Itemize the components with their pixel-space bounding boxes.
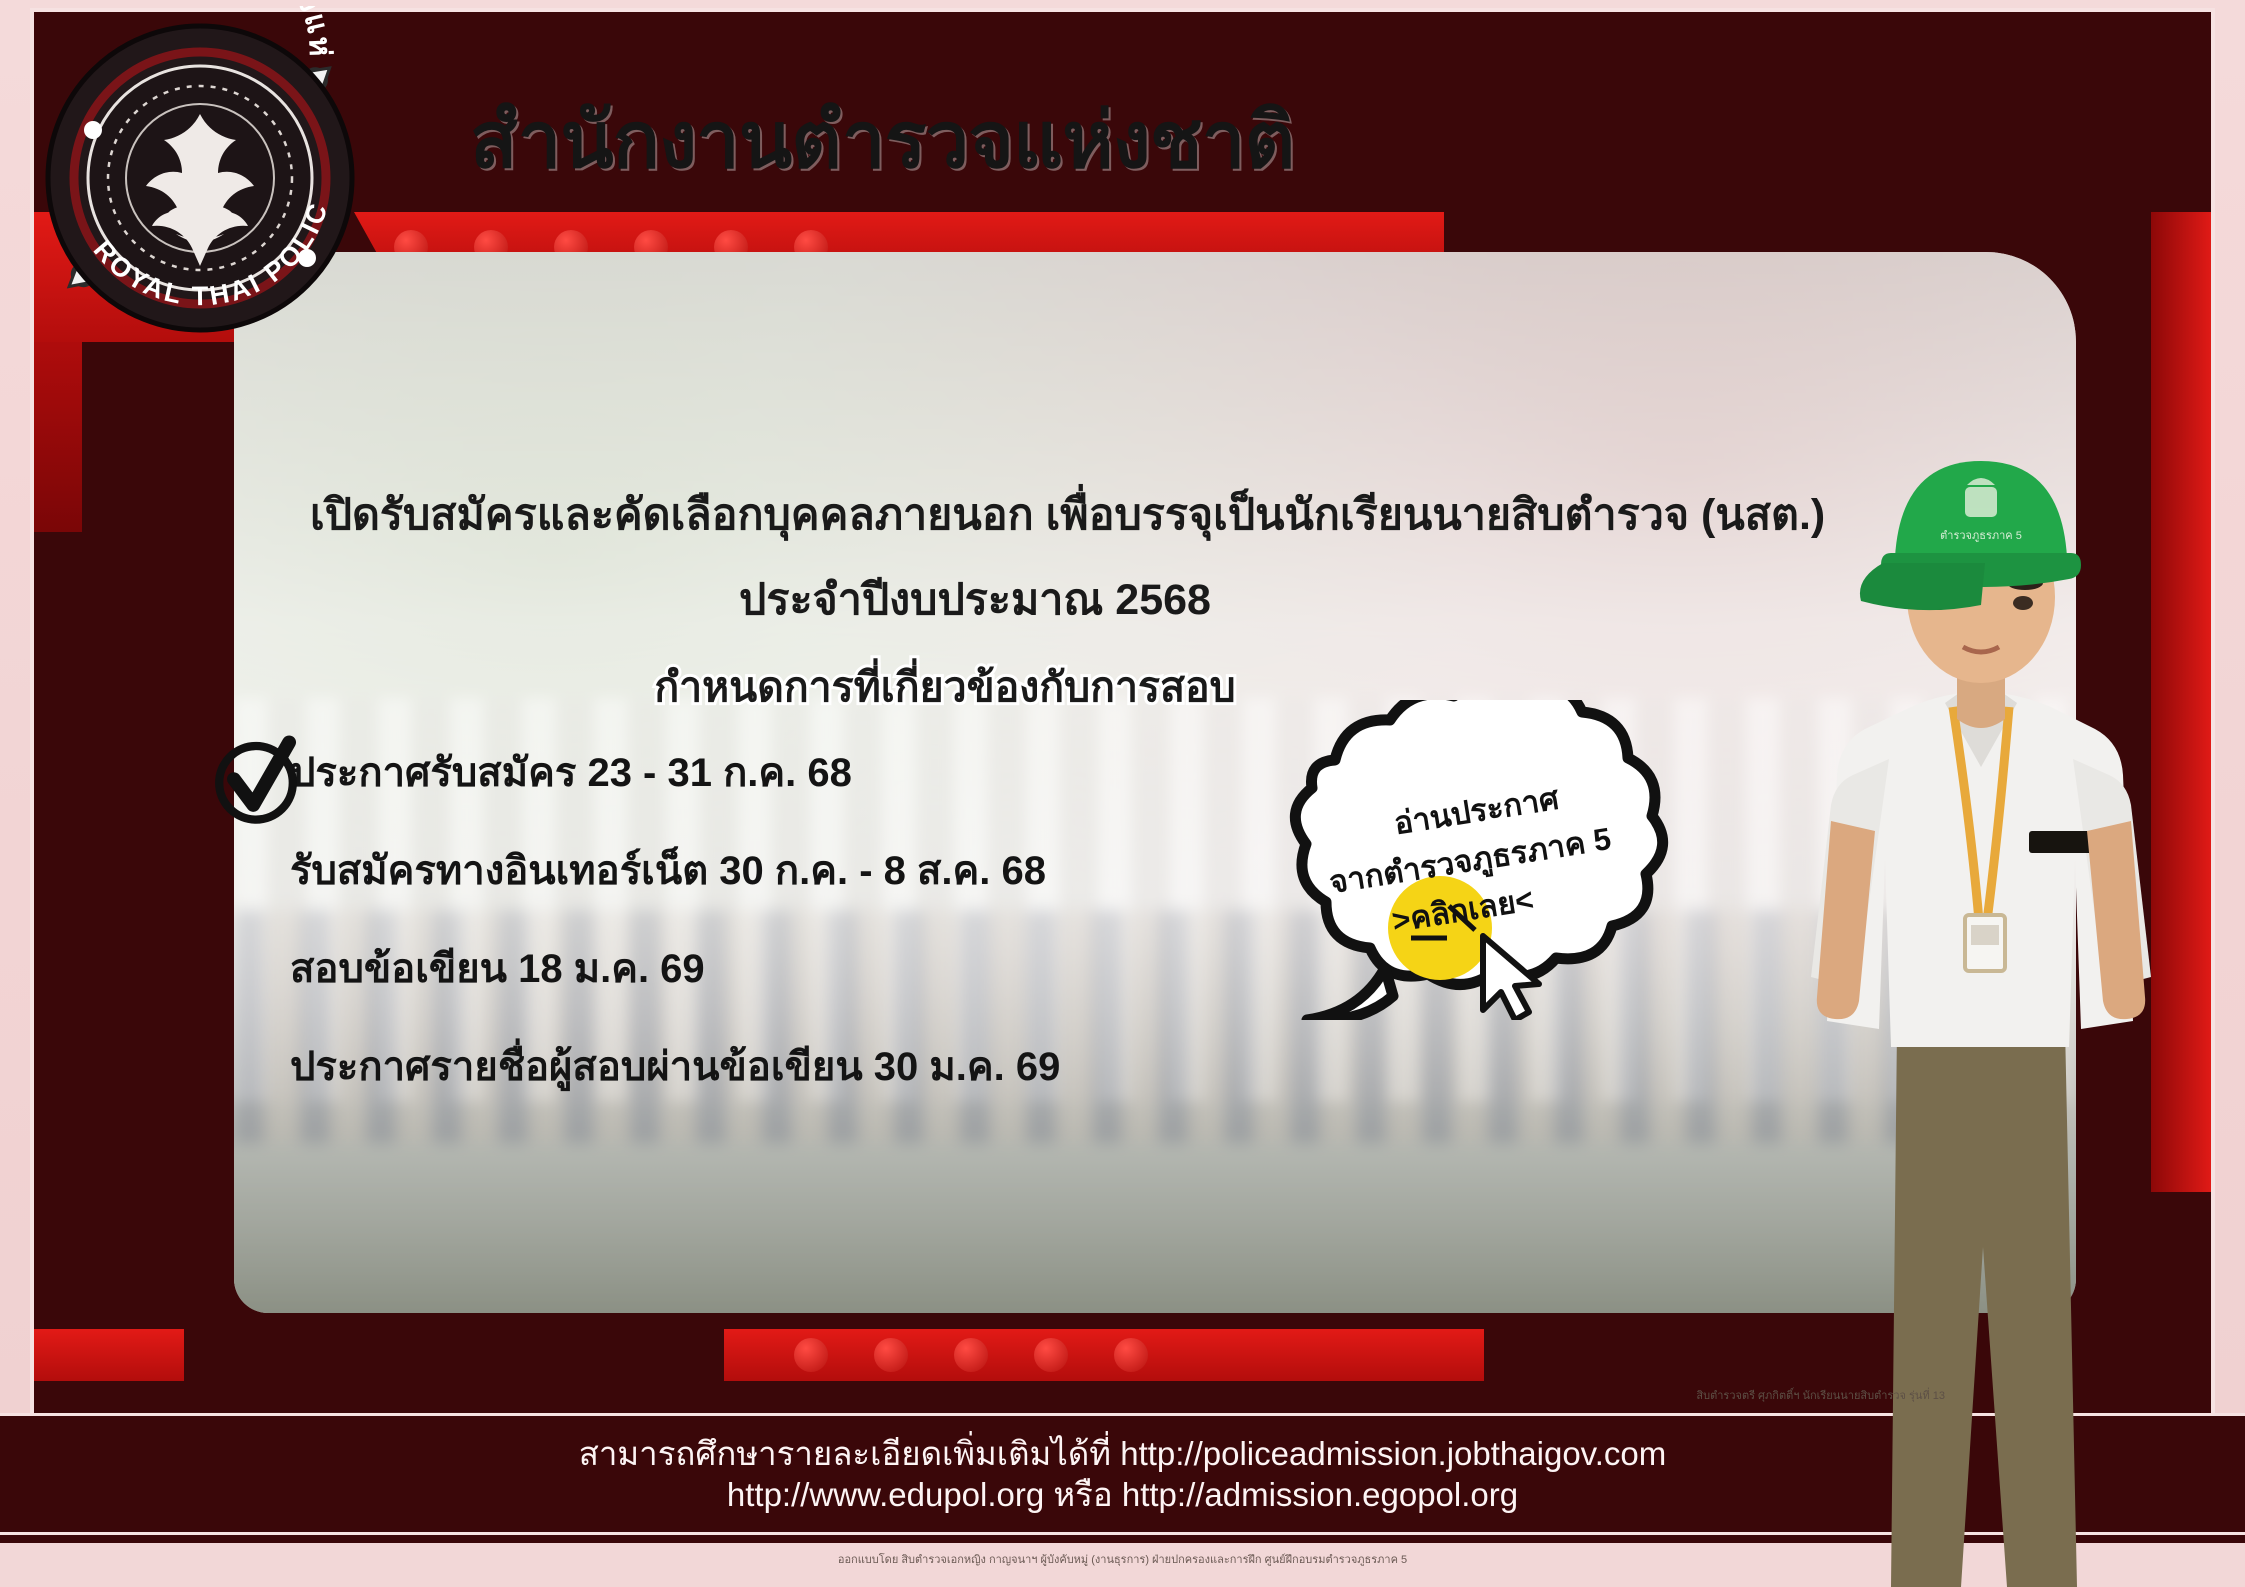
footer-url-line-2[interactable]: http://www.edupol.org หรือ http://admiss… <box>727 1474 1518 1515</box>
red-accent-bottom-left <box>34 1329 184 1381</box>
check-circle-icon <box>210 735 302 827</box>
speech-bubble-shape <box>1235 700 1705 1020</box>
page-title: สำนักงานตำรวจแห่งชาติ <box>470 78 1294 202</box>
officer-credit: สิบตำรวจตรี ศุภกิตติ์ฯ นักเรียนนายสิบตำร… <box>1696 1386 1945 1404</box>
footer-url-line-1[interactable]: สามารถศึกษารายละเอียดเพิ่มเติมได้ที่ htt… <box>579 1433 1667 1474</box>
poster-root: สำนักงานตำรวจแห่งชาติ ROYAL THAI POLICE … <box>0 0 2245 1587</box>
royal-thai-police-seal: สำนักงานตำรวจแห่งชาติ ROYAL THAI POLICE <box>28 6 373 351</box>
schedule-list: ประกาศรับสมัคร 23 - 31 ก.ค. 68 รับสมัครท… <box>290 740 1060 1132</box>
officer-photo: ตำรวจภูธรภาค 5 <box>1715 407 2235 1587</box>
schedule-item-0: ประกาศรับสมัคร 23 - 31 ก.ค. 68 <box>290 740 1060 804</box>
designer-credit: ออกแบบโดย สิบตำรวจเอกหญิง กาญจนาฯ ผู้บัง… <box>838 1550 1407 1568</box>
schedule-item-1: รับสมัครทางอินเทอร์เน็ต 30 ก.ค. - 8 ส.ค.… <box>290 838 1060 902</box>
schedule-item-3: ประกาศรายชื่อผู้สอบผ่านข้อเขียน 30 ม.ค. … <box>290 1034 1060 1098</box>
click-here-speech-bubble[interactable]: อ่านประกาศ จากตำรวจภูธรภาค 5 >คลิกเลย< <box>1235 700 1705 1020</box>
announcement-line-1: เปิดรับสมัครและคัดเลือกบุคคลภายนอก เพื่อ… <box>310 480 1825 548</box>
schedule-item-2: สอบข้อเขียน 18 ม.ค. 69 <box>290 936 1060 1000</box>
cap-badge-label: ตำรวจภูธรภาค 5 <box>1940 530 2022 542</box>
